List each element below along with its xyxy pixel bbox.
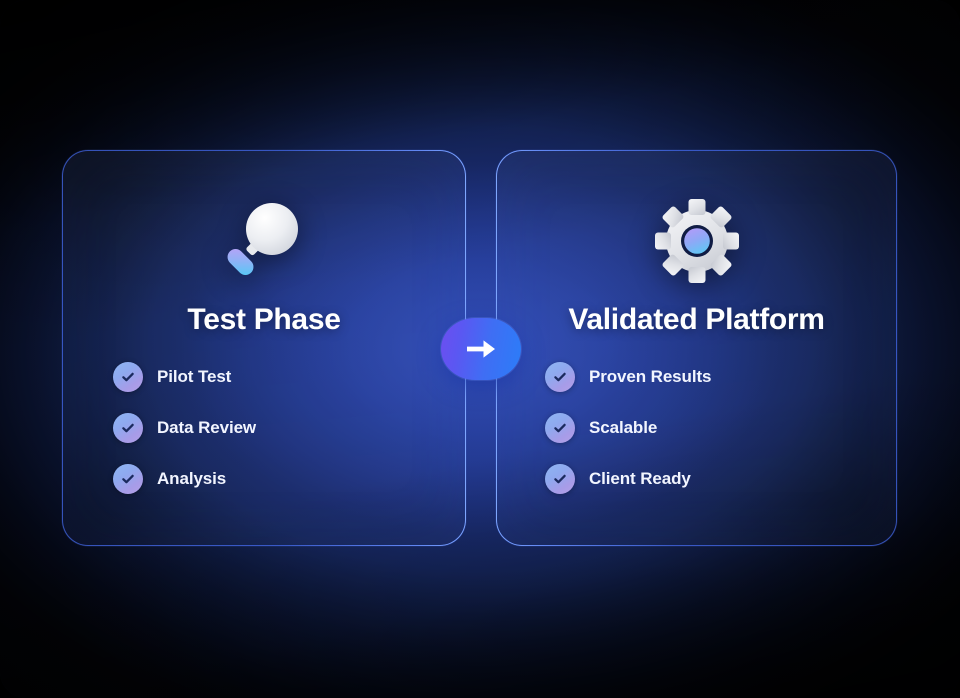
feature-label: Client Ready bbox=[589, 469, 691, 489]
card-title: Test Phase bbox=[187, 303, 340, 336]
list-item[interactable]: Proven Results bbox=[545, 362, 896, 392]
check-circle-icon bbox=[545, 464, 575, 494]
list-item[interactable]: Scalable bbox=[545, 413, 896, 443]
card-title: Validated Platform bbox=[568, 303, 824, 336]
list-item[interactable]: Analysis bbox=[113, 464, 465, 494]
graphic-stage: Test Phase Pilot Test bbox=[0, 0, 960, 698]
card-validated-platform[interactable]: Validated Platform Proven Results bbox=[496, 150, 897, 546]
magnifier-icon bbox=[220, 195, 308, 287]
list-item[interactable]: Client Ready bbox=[545, 464, 896, 494]
list-item[interactable]: Pilot Test bbox=[113, 362, 465, 392]
arrow-right-icon bbox=[461, 334, 501, 364]
check-circle-icon bbox=[113, 362, 143, 392]
check-circle-icon bbox=[113, 464, 143, 494]
check-circle-icon bbox=[545, 362, 575, 392]
card-test-phase[interactable]: Test Phase Pilot Test bbox=[62, 150, 466, 546]
list-item[interactable]: Data Review bbox=[113, 413, 465, 443]
feature-list: Pilot Test Data Review bbox=[63, 362, 465, 494]
card-group: Test Phase Pilot Test bbox=[0, 0, 960, 698]
feature-list: Proven Results Scalable bbox=[497, 362, 896, 494]
feature-label: Analysis bbox=[157, 469, 226, 489]
feature-label: Pilot Test bbox=[157, 367, 231, 387]
check-circle-icon bbox=[113, 413, 143, 443]
feature-label: Data Review bbox=[157, 418, 256, 438]
feature-label: Proven Results bbox=[589, 367, 711, 387]
flow-arrow-button[interactable] bbox=[441, 318, 521, 380]
feature-label: Scalable bbox=[589, 418, 657, 438]
check-circle-icon bbox=[545, 413, 575, 443]
gear-icon bbox=[653, 195, 741, 287]
